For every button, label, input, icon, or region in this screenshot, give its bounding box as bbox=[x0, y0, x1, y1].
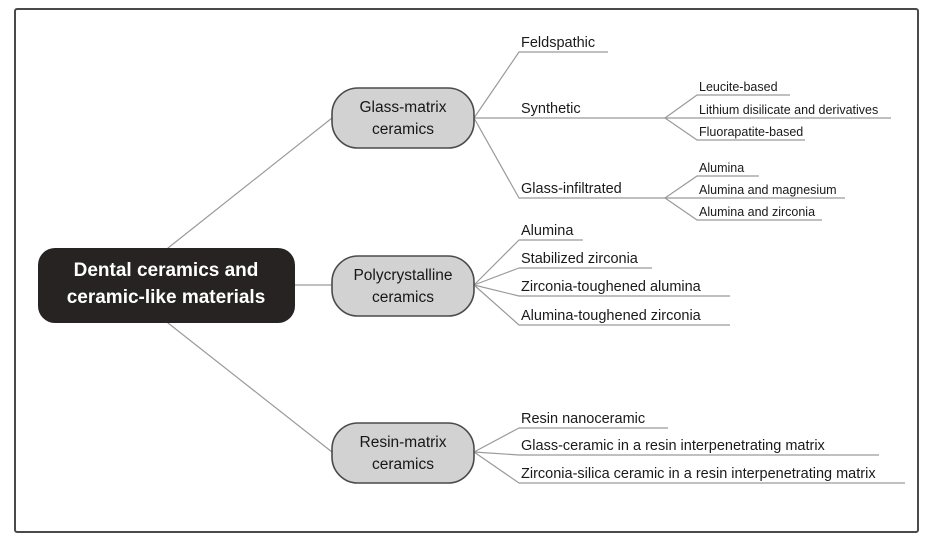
leaf-label-gi-alumina-and-zirconia: Alumina and zirconia bbox=[699, 205, 815, 219]
category-label-glass-matrix-line2: ceramics bbox=[372, 121, 434, 138]
leaf-label-gi-alumina: Alumina bbox=[699, 161, 744, 175]
leaf-label-glass-infiltrated: Glass-infiltrated bbox=[521, 181, 622, 197]
leaf-label-zirconia-silica-ceramic-in-a-resin-interpenetrating-matrix: Zirconia-silica ceramic in a resin inter… bbox=[521, 466, 876, 482]
leaf-label-glass-ceramic-in-a-resin-interpenetrating-matrix: Glass-ceramic in a resin interpenetratin… bbox=[521, 438, 826, 454]
leaf-label-fluorapatite-based: Fluorapatite-based bbox=[699, 125, 803, 139]
category-shape-glass-matrix[interactable] bbox=[332, 88, 474, 148]
connector-synthetic-to-fluorapatite bbox=[665, 118, 697, 140]
connector-glass-matrix-to-glass-infiltrated bbox=[474, 118, 519, 198]
leaf-label-gi-alumina-and-magnesium: Alumina and magnesium bbox=[699, 183, 837, 197]
category-node-resin-matrix-ceramics[interactable]: Resin-matrix ceramics bbox=[332, 423, 474, 483]
leaf-label-synthetic: Synthetic bbox=[521, 101, 581, 117]
category-node-glass-matrix-ceramics[interactable]: Glass-matrix ceramics bbox=[332, 88, 474, 148]
category-label-resin-matrix-line2: ceramics bbox=[372, 456, 434, 473]
root-node[interactable]: Dental ceramics and ceramic-like materia… bbox=[38, 248, 295, 323]
leaf-label-zirconia-toughened-alumina: Zirconia-toughened alumina bbox=[521, 279, 702, 295]
category-label-resin-matrix-line1: Resin-matrix bbox=[360, 434, 447, 451]
connector-root-to-resin-matrix bbox=[168, 323, 332, 452]
connector-poly-to-alumina bbox=[474, 240, 519, 285]
connector-resin-to-nanoceramic bbox=[474, 428, 519, 452]
connector-glass-matrix-to-feldspathic bbox=[474, 52, 519, 118]
leaf-label-resin-nanoceramic: Resin nanoceramic bbox=[521, 411, 645, 427]
mindmap-diagram: Dental ceramics and ceramic-like materia… bbox=[0, 0, 932, 541]
connector-synthetic-to-leucite bbox=[665, 95, 697, 118]
leaf-label-alumina-toughened-zirconia: Alumina-toughened zirconia bbox=[521, 308, 702, 324]
connector-glass-infiltrated-to-alumina bbox=[665, 176, 697, 198]
leaf-label-lithium-disilicate-and-derivatives: Lithium disilicate and derivatives bbox=[699, 103, 878, 117]
root-label-line1: Dental ceramics and bbox=[74, 260, 259, 281]
leaf-label-stabilized-zirconia: Stabilized zirconia bbox=[521, 251, 639, 267]
category-node-polycrystalline-ceramics[interactable]: Polycrystalline ceramics bbox=[332, 256, 474, 316]
category-label-polycrystalline-line2: ceramics bbox=[372, 289, 434, 306]
category-shape-polycrystalline[interactable] bbox=[332, 256, 474, 316]
leaf-label-poly-alumina: Alumina bbox=[521, 223, 574, 239]
category-shape-resin-matrix[interactable] bbox=[332, 423, 474, 483]
leaf-label-feldspathic: Feldspathic bbox=[521, 35, 595, 51]
category-label-glass-matrix-line1: Glass-matrix bbox=[360, 99, 447, 116]
connector-root-to-glass-matrix bbox=[168, 118, 332, 248]
leaf-label-leucite-based: Leucite-based bbox=[699, 80, 778, 94]
connector-resin-to-zirconia-silica bbox=[474, 452, 519, 483]
glass-matrix-connectors bbox=[474, 52, 519, 198]
diagram-frame: Dental ceramics and ceramic-like materia… bbox=[0, 0, 932, 541]
category-label-polycrystalline-line1: Polycrystalline bbox=[353, 267, 452, 284]
root-label-line2: ceramic-like materials bbox=[67, 287, 266, 308]
connector-resin-to-glass-ceramic bbox=[474, 452, 519, 455]
connector-poly-to-stabilized-zirconia bbox=[474, 268, 519, 285]
connector-glass-infiltrated-to-alumina-zirconia bbox=[665, 198, 697, 220]
